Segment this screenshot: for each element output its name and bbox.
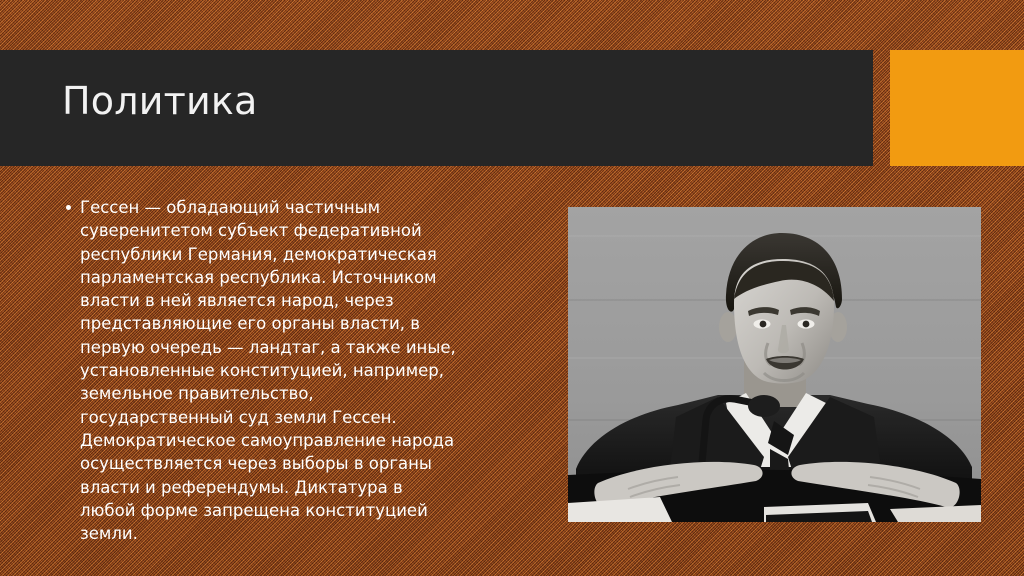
portrait-photo xyxy=(568,207,981,522)
bullet-dot-icon xyxy=(66,205,71,210)
body-content: Гессен — обладающий частичным суверените… xyxy=(60,196,460,545)
presentation-slide: Политика Гессен — обладающий частичным с… xyxy=(0,0,1024,576)
portrait-photo-graphic xyxy=(568,207,981,522)
list-item: Гессен — обладающий частичным суверените… xyxy=(60,196,460,545)
page-title: Политика xyxy=(62,78,257,124)
accent-block-orange xyxy=(890,50,1024,166)
bullet-text: Гессен — обладающий частичным суверените… xyxy=(80,196,460,545)
